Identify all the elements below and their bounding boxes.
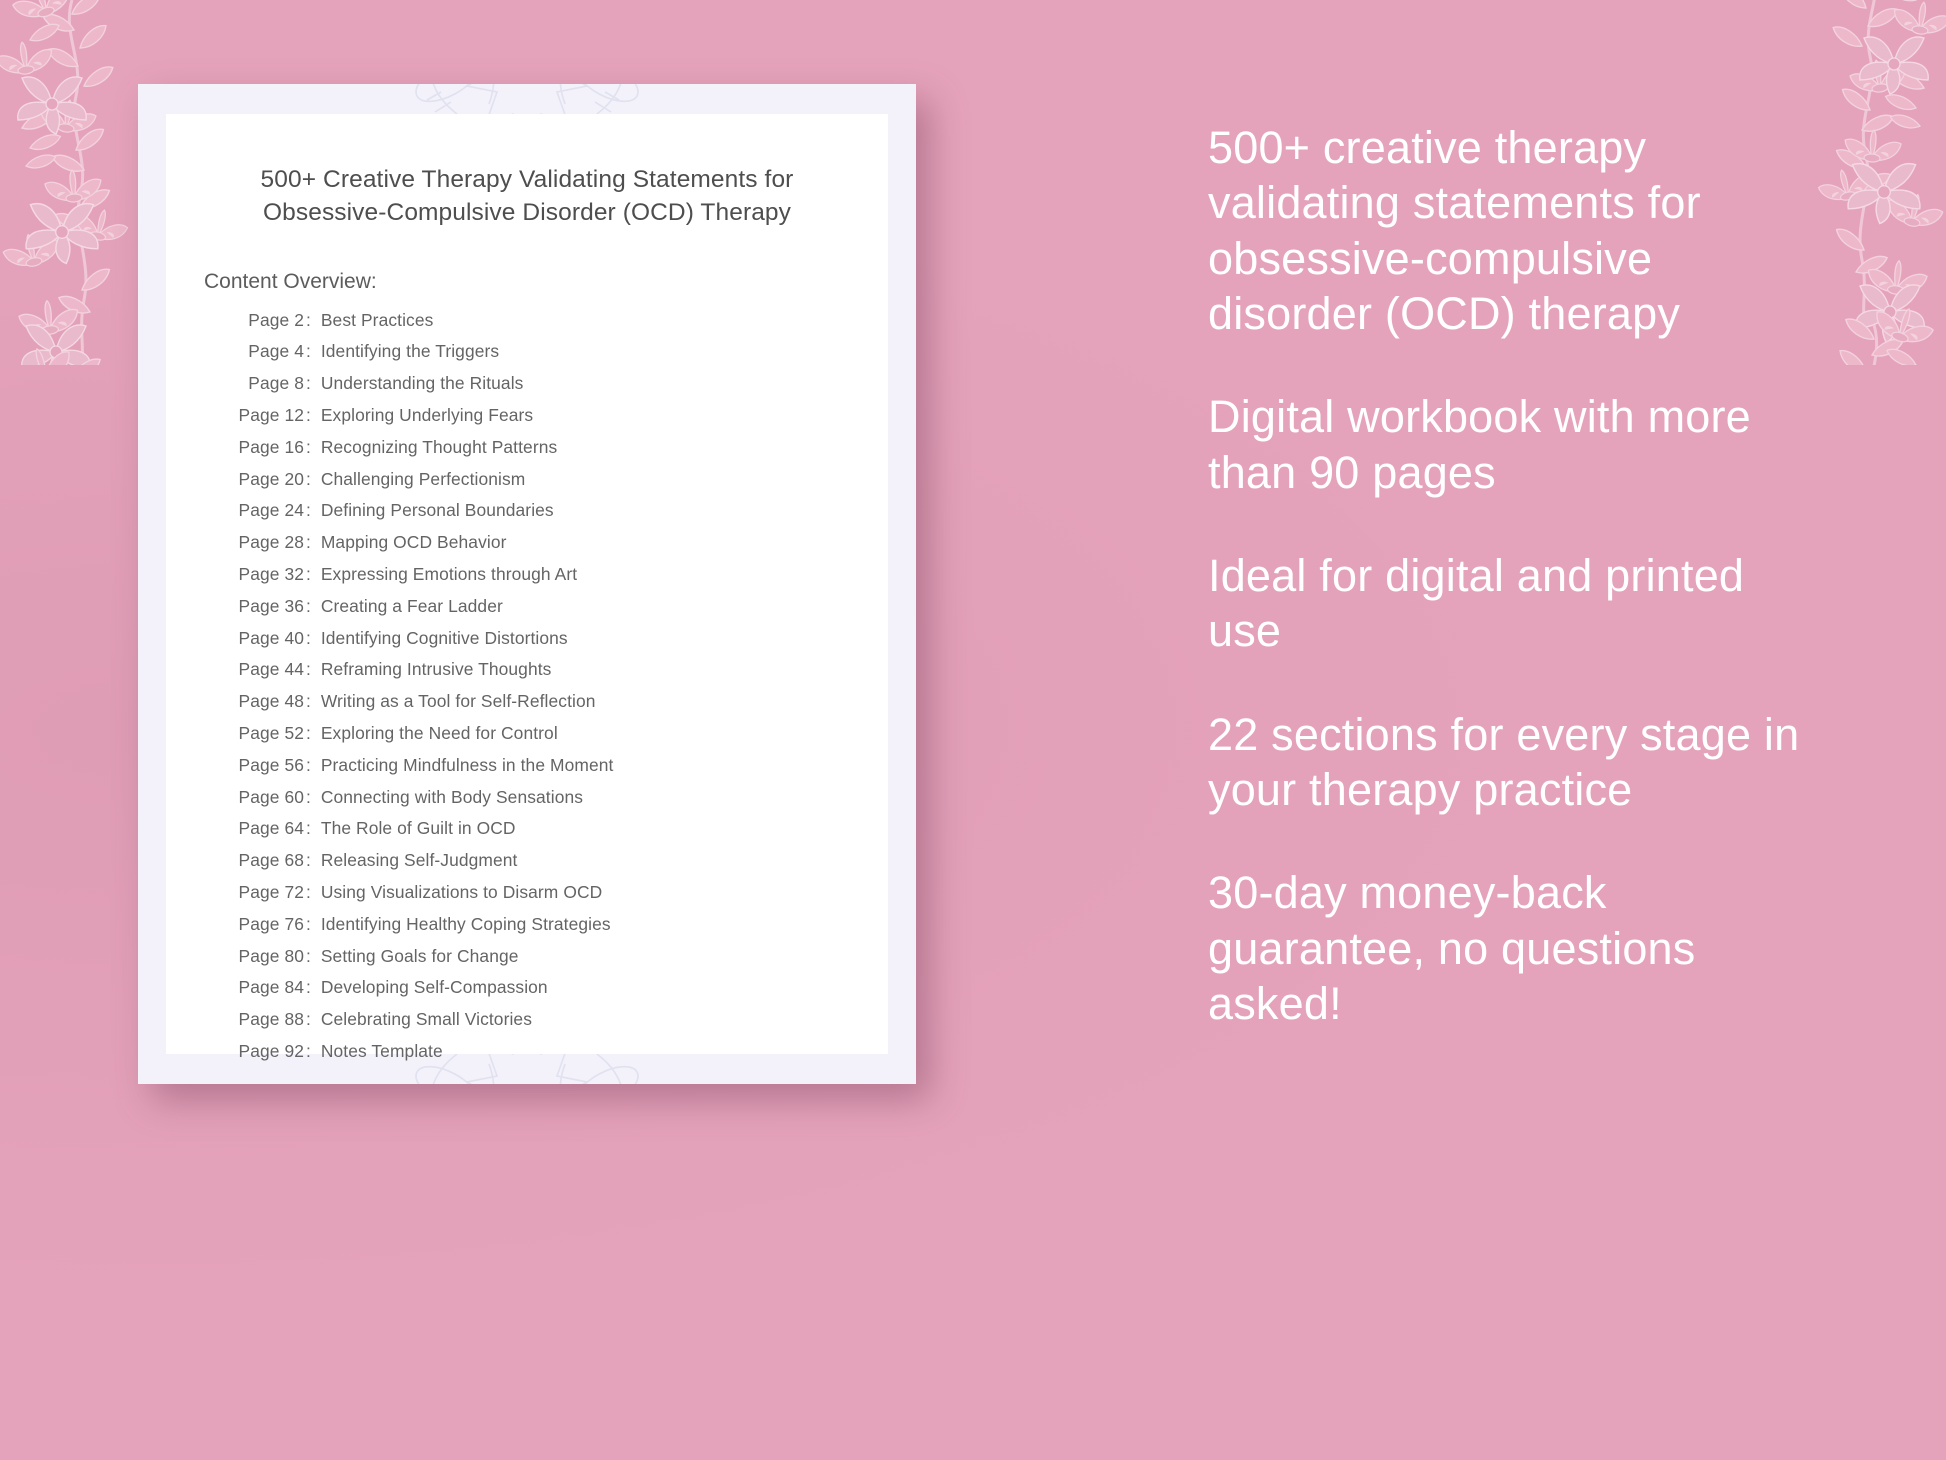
toc-colon: :	[304, 469, 321, 490]
toc-page-label: Page 64	[228, 818, 304, 839]
toc-colon: :	[304, 850, 321, 871]
toc-colon: :	[304, 532, 321, 553]
toc-page-label: Page 48	[228, 691, 304, 712]
toc-entry-title: Identifying Cognitive Distortions	[321, 628, 568, 649]
toc-page-label: Page 12	[228, 405, 304, 426]
toc-entry-title: Challenging Perfectionism	[321, 469, 526, 490]
toc-page-label: Page 20	[228, 469, 304, 490]
toc-colon: :	[304, 310, 321, 331]
toc-page-label: Page 68	[228, 850, 304, 871]
toc-colon: :	[304, 564, 321, 585]
marketing-bullet: 30-day money-back guarantee, no question…	[1208, 865, 1808, 1031]
toc-entry-title: Setting Goals for Change	[321, 946, 519, 967]
toc-entry-title: Expressing Emotions through Art	[321, 564, 577, 585]
toc-colon: :	[304, 914, 321, 935]
toc-row: Page 32:Expressing Emotions through Art	[228, 564, 888, 596]
toc-row: Page 40:Identifying Cognitive Distortion…	[228, 628, 888, 660]
toc-entry-title: Exploring the Need for Control	[321, 723, 558, 744]
toc-colon: :	[304, 946, 321, 967]
toc-page-label: Page 92	[228, 1041, 304, 1062]
toc-row: Page 80:Setting Goals for Change	[228, 946, 888, 978]
toc-page-label: Page 80	[228, 946, 304, 967]
document-card: 500+ Creative Therapy Validating Stateme…	[138, 84, 916, 1084]
marketing-bullet: Ideal for digital and printed use	[1208, 548, 1808, 659]
content-overview-label: Content Overview:	[204, 270, 888, 294]
page-title: 500+ Creative Therapy Validating Stateme…	[227, 114, 827, 230]
toc-page-label: Page 72	[228, 882, 304, 903]
toc-entry-title: The Role of Guilt in OCD	[321, 818, 516, 839]
toc-entry-title: Defining Personal Boundaries	[321, 500, 554, 521]
toc-entry-title: Mapping OCD Behavior	[321, 532, 507, 553]
toc-row: Page 60:Connecting with Body Sensations	[228, 787, 888, 819]
toc-entry-title: Creating a Fear Ladder	[321, 596, 503, 617]
toc-entry-title: Reframing Intrusive Thoughts	[321, 659, 552, 680]
toc-entry-title: Connecting with Body Sensations	[321, 787, 583, 808]
toc-page-label: Page 60	[228, 787, 304, 808]
toc-entry-title: Releasing Self-Judgment	[321, 850, 518, 871]
toc-row: Page 2:Best Practices	[228, 310, 888, 342]
toc-colon: :	[304, 500, 321, 521]
toc-row: Page 44:Reframing Intrusive Thoughts	[228, 659, 888, 691]
toc-page-label: Page 52	[228, 723, 304, 744]
toc-entry-title: Best Practices	[321, 310, 434, 331]
toc-page-label: Page 32	[228, 564, 304, 585]
toc-row: Page 8:Understanding the Rituals	[228, 373, 888, 405]
floral-border-right	[1796, 0, 1946, 1460]
toc-row: Page 16:Recognizing Thought Patterns	[228, 437, 888, 469]
toc-page-label: Page 16	[228, 437, 304, 458]
toc-entry-title: Using Visualizations to Disarm OCD	[321, 882, 602, 903]
toc-page-label: Page 44	[228, 659, 304, 680]
toc-entry-title: Celebrating Small Victories	[321, 1009, 532, 1030]
toc-entry-title: Exploring Underlying Fears	[321, 405, 533, 426]
toc-page-label: Page 28	[228, 532, 304, 553]
document-page: 500+ Creative Therapy Validating Stateme…	[166, 114, 888, 1054]
toc-entry-title: Notes Template	[321, 1041, 443, 1062]
toc-page-label: Page 88	[228, 1009, 304, 1030]
toc-entry-title: Recognizing Thought Patterns	[321, 437, 557, 458]
toc-row: Page 36:Creating a Fear Ladder	[228, 596, 888, 628]
toc-colon: :	[304, 691, 321, 712]
toc-row: Page 24:Defining Personal Boundaries	[228, 500, 888, 532]
marketing-bullet: Digital workbook with more than 90 pages	[1208, 389, 1808, 500]
toc-row: Page 20:Challenging Perfectionism	[228, 469, 888, 501]
toc-row: Page 68:Releasing Self-Judgment	[228, 850, 888, 882]
toc-colon: :	[304, 787, 321, 808]
toc-entry-title: Developing Self-Compassion	[321, 977, 548, 998]
toc-page-label: Page 4	[228, 341, 304, 362]
toc-row: Page 72:Using Visualizations to Disarm O…	[228, 882, 888, 914]
toc-page-label: Page 36	[228, 596, 304, 617]
toc-colon: :	[304, 405, 321, 426]
toc-page-label: Page 56	[228, 755, 304, 776]
toc-entry-title: Identifying the Triggers	[321, 341, 499, 362]
toc-colon: :	[304, 755, 321, 776]
toc-entry-title: Understanding the Rituals	[321, 373, 524, 394]
toc-colon: :	[304, 437, 321, 458]
toc-colon: :	[304, 977, 321, 998]
toc-colon: :	[304, 1009, 321, 1030]
toc-colon: :	[304, 628, 321, 649]
toc-row: Page 52:Exploring the Need for Control	[228, 723, 888, 755]
marketing-column: 500+ creative therapy validating stateme…	[1208, 120, 1808, 1031]
toc-page-label: Page 84	[228, 977, 304, 998]
toc-row: Page 84:Developing Self-Compassion	[228, 977, 888, 1009]
floral-border-left	[0, 0, 150, 1460]
toc-colon: :	[304, 1041, 321, 1062]
toc-colon: :	[304, 723, 321, 744]
toc-entry-title: Writing as a Tool for Self-Reflection	[321, 691, 596, 712]
toc-row: Page 88:Celebrating Small Victories	[228, 1009, 888, 1041]
toc-page-label: Page 2	[228, 310, 304, 331]
toc-colon: :	[304, 818, 321, 839]
toc-row: Page 4:Identifying the Triggers	[228, 341, 888, 373]
toc-row: Page 12:Exploring Underlying Fears	[228, 405, 888, 437]
toc-row: Page 76:Identifying Healthy Coping Strat…	[228, 914, 888, 946]
toc-row: Page 92:Notes Template	[228, 1041, 888, 1073]
toc-page-label: Page 24	[228, 500, 304, 521]
toc-page-label: Page 8	[228, 373, 304, 394]
marketing-bullet: 22 sections for every stage in your ther…	[1208, 707, 1808, 818]
toc-row: Page 64:The Role of Guilt in OCD	[228, 818, 888, 850]
toc-colon: :	[304, 373, 321, 394]
toc-colon: :	[304, 659, 321, 680]
toc-colon: :	[304, 882, 321, 903]
table-of-contents: Page 2:Best PracticesPage 4:Identifying …	[228, 310, 888, 1073]
toc-colon: :	[304, 596, 321, 617]
toc-row: Page 28:Mapping OCD Behavior	[228, 532, 888, 564]
toc-colon: :	[304, 341, 321, 362]
marketing-bullet: 500+ creative therapy validating stateme…	[1208, 120, 1808, 341]
toc-page-label: Page 76	[228, 914, 304, 935]
toc-row: Page 48:Writing as a Tool for Self-Refle…	[228, 691, 888, 723]
toc-entry-title: Practicing Mindfulness in the Moment	[321, 755, 614, 776]
toc-page-label: Page 40	[228, 628, 304, 649]
toc-row: Page 56:Practicing Mindfulness in the Mo…	[228, 755, 888, 787]
toc-entry-title: Identifying Healthy Coping Strategies	[321, 914, 611, 935]
